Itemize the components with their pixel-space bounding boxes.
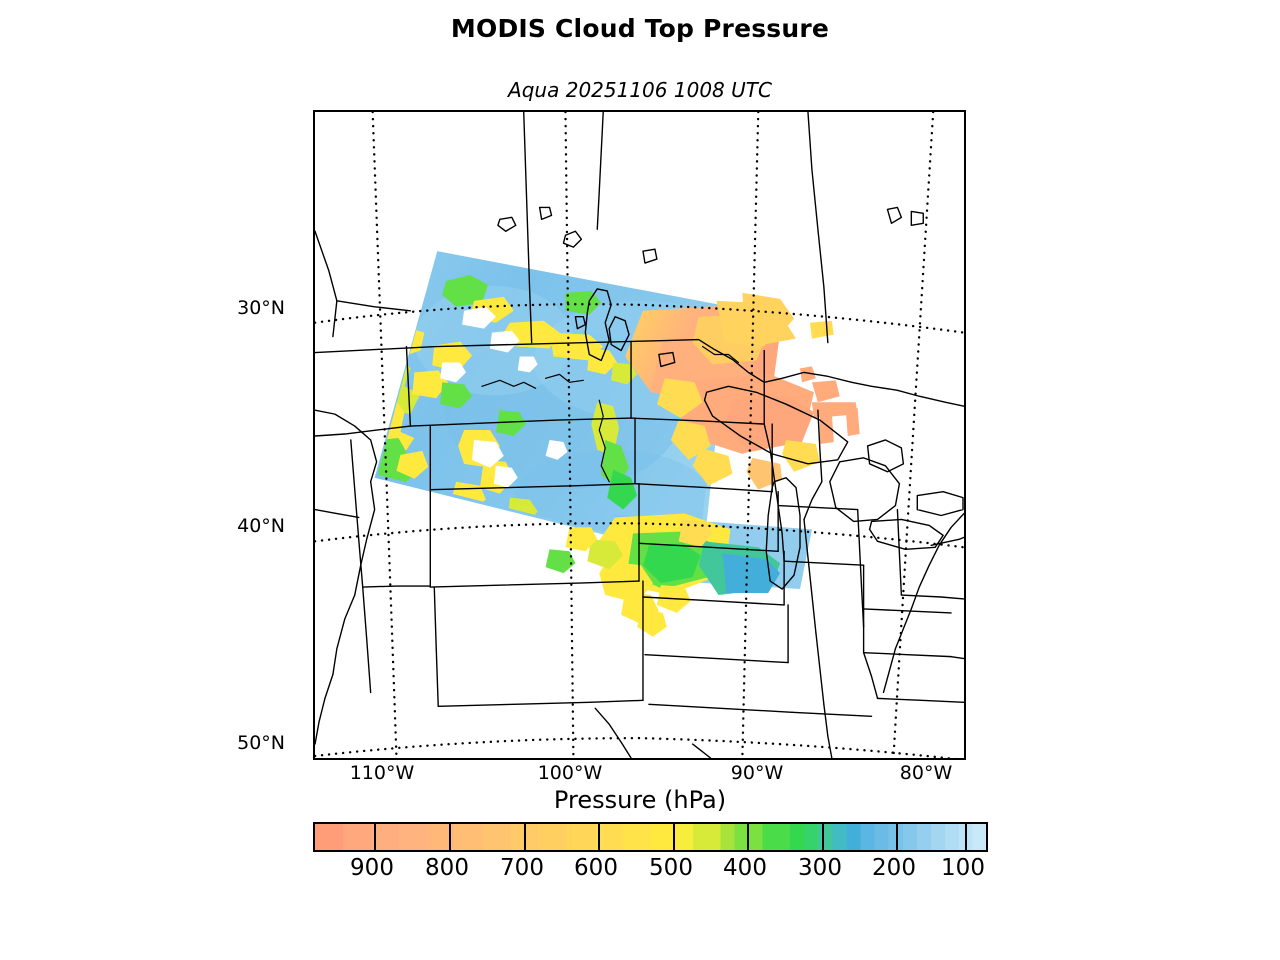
colorbar-label-100: 100 — [908, 857, 1018, 880]
ytick-label-40n: 40°N — [165, 517, 285, 536]
colorbar[interactable] — [313, 822, 988, 852]
colorbar-tick-200 — [896, 824, 898, 852]
colorbar-tick-700 — [524, 824, 526, 852]
parallel-30n — [315, 738, 964, 758]
colorbar-tick-400 — [747, 824, 749, 852]
xtick-label-80w: 80°W — [856, 764, 996, 783]
xtick-label-110w: 110°W — [312, 764, 452, 783]
colorbar-box — [313, 822, 988, 852]
ytick-label-50n: 30°N — [165, 299, 285, 318]
colorbar-tick-500 — [673, 824, 675, 852]
map-plot-area[interactable] — [313, 110, 966, 760]
figure-title: MODIS Cloud Top Pressure — [0, 14, 1280, 43]
figure-canvas: MODIS Cloud Top Pressure Aqua 20251106 1… — [0, 0, 1280, 960]
meridian-80w — [893, 112, 933, 758]
xtick-label-100w: 100°W — [500, 764, 640, 783]
colorbar-tick-600 — [598, 824, 600, 852]
colorbar-tick-800 — [449, 824, 451, 852]
colorbar-tick-100 — [965, 824, 967, 852]
colorbar-tick-300 — [822, 824, 824, 852]
colorbar-axis-label: Pressure (hPa) — [0, 786, 1280, 814]
colorbar-gradient — [315, 824, 986, 850]
ytick-label-30n: 50°N — [165, 734, 285, 753]
map-canvas — [315, 112, 964, 758]
figure-subtitle: Aqua 20251106 1008 UTC — [0, 78, 1280, 102]
xtick-label-90w: 90°W — [687, 764, 827, 783]
colorbar-tick-900 — [374, 824, 376, 852]
